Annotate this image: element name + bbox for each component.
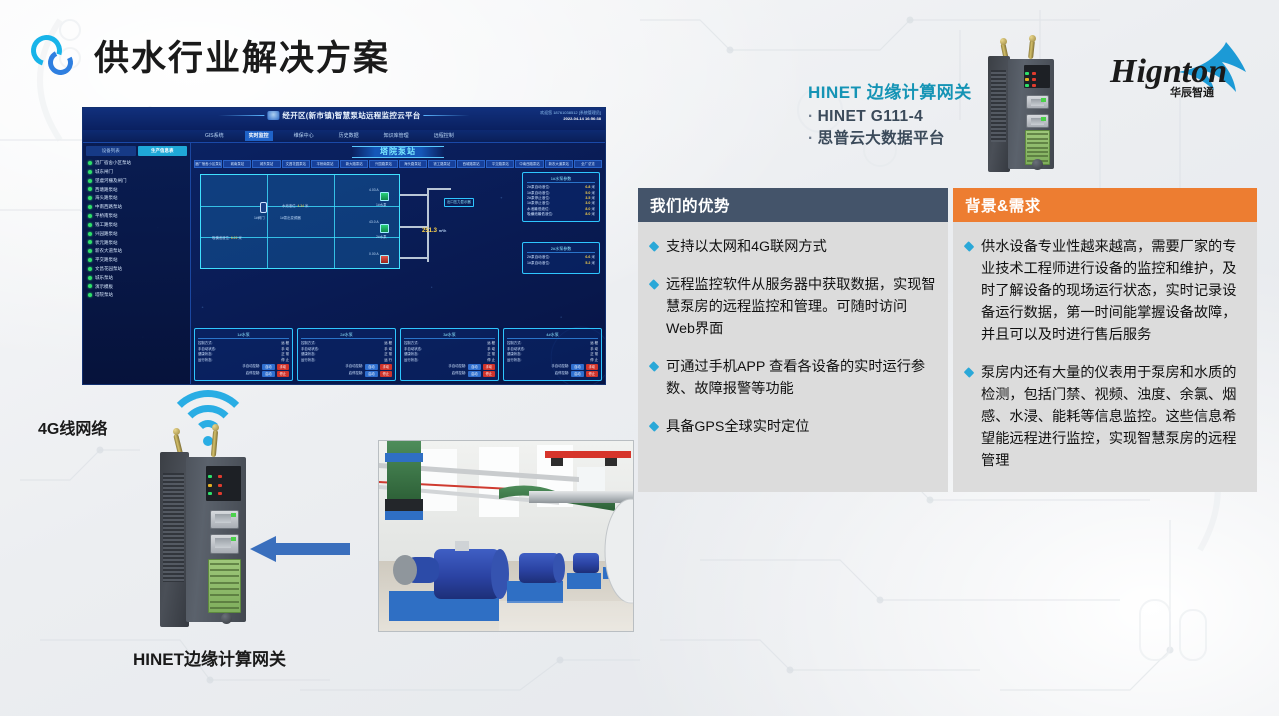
station-name: 城乐泵站 [95, 275, 113, 281]
brand-wing-right-icon [424, 115, 470, 116]
scada-station-list[interactable]: 酒厂宿舍小区泵站城东闸门望虞河栅及闸门西塘路泵站海头路泵站中南西路泵站平桥南泵站… [86, 159, 187, 300]
auto-button[interactable]: 自动 [468, 364, 480, 370]
scada-nav-maintenance[interactable]: 维保中心 [290, 131, 318, 141]
bullet-text: 泵房内还有大量的仪表用于泵房和水质的检测，包括门禁、视频、浊度、余氯、烟感、水浸… [981, 362, 1245, 472]
stop-button[interactable]: 停止 [277, 371, 289, 377]
pump-control-card[interactable]: 3#水泵控制方式:远 程手自动状态:手 动健康状态:正 常运行状态:停 止手自动… [400, 328, 499, 381]
status-dot-icon [88, 161, 92, 165]
hignton-bird-icon: Hignton 华辰智通 [1108, 40, 1250, 102]
scada-sidebar-tabs[interactable]: 设备列表 生产信息表 [86, 146, 187, 156]
status-dot-icon [88, 205, 92, 209]
panel-our-advantages: 我们的优势 支持以太网和4G联网方式远程监控软件从服务器中获取数据，实现智慧泵房… [638, 188, 948, 492]
scada-pump-control-cards[interactable]: 1#水泵控制方式:远 程手自动状态:手 动健康状态:正 常运行状态:停 止手自动… [194, 328, 602, 381]
station-name: 新农大道泵站 [95, 248, 122, 254]
ethernet-port-2-icon [210, 534, 239, 553]
status-dot-icon [88, 258, 92, 262]
status-dot-icon [88, 214, 92, 218]
diamond-bullet-icon [649, 241, 660, 252]
station-tab[interactable]: 中南西路泵站 [515, 160, 543, 168]
bullet-text: 可通过手机APP 查看各设备的实时运行参数、故障报警等功能 [666, 356, 936, 400]
auto-manual-label: 手自动控制: [242, 364, 260, 370]
start-stop-label: 启停控制: [452, 371, 467, 377]
svg-text:华辰智通: 华辰智通 [1170, 85, 1214, 99]
pump-auto-manual-controls[interactable]: 手自动控制:自动手动 [404, 364, 495, 370]
scada-nav-knowledge[interactable]: 知识库管理 [380, 131, 413, 141]
pump-start-stop-controls[interactable]: 启停控制:启动停止 [507, 371, 598, 377]
bullet-text: 支持以太网和4G联网方式 [666, 236, 827, 258]
pump-start-stop-controls[interactable]: 启停控制:启动停止 [404, 371, 495, 377]
pump-control-card[interactable]: 1#水泵控制方式:远 程手自动状态:手 动健康状态:正 常运行状态:停 止手自动… [194, 328, 293, 381]
station-tab[interactable]: 城南泵站 [223, 160, 251, 168]
station-list-item[interactable]: 钱工路泵站 [86, 220, 187, 229]
product-callout: HINET 边缘计算网关 ·HINET G111-4 ·思普云大数据平台 [808, 78, 972, 151]
station-tab[interactable]: 酒厂宿舍小区泵站 [194, 160, 222, 168]
status-dot-icon [88, 249, 92, 253]
pump-status-value: 停 止 [487, 358, 495, 363]
bullet-item: 可通过手机APP 查看各设备的实时运行参数、故障报警等功能 [650, 356, 936, 400]
pump-auto-manual-controls[interactable]: 手自动控制:自动手动 [301, 364, 392, 370]
scada-nav-history[interactable]: 历史数据 [335, 131, 363, 141]
station-list-item[interactable]: 望虞河栅及闸门 [86, 176, 187, 185]
scada-nav-bar[interactable]: GIS系统 实时监控 维保中心 历史数据 知识库管理 远程控制 [83, 130, 605, 143]
station-name: 平交路泵站 [95, 257, 118, 263]
station-tab[interactable]: 钱工路泵站 [428, 160, 456, 168]
panel-advantages-heading: 我们的优势 [638, 188, 948, 222]
pump-card-title: 3#水泵 [404, 332, 495, 339]
pump-1-parameter-panel: 1#水泵参数 2#泵自动液位:6.8 米1#泵自动液位:5.0 米2#泵停止液位… [522, 172, 600, 221]
station-list-item[interactable]: 酒厂宿舍小区泵站 [86, 159, 187, 168]
station-tab[interactable]: 新农大道泵站 [545, 160, 573, 168]
start-button[interactable]: 启动 [571, 371, 583, 377]
station-list-item[interactable]: 平交路泵站 [86, 256, 187, 265]
bullet-text: 远程监控软件从服务器中获取数据，实现智慧泵房的远程监控和管理。可随时访问Web界… [666, 274, 936, 340]
start-button[interactable]: 启动 [365, 371, 377, 377]
auto-manual-label: 手自动控制: [345, 364, 363, 370]
svg-text:Hignton: Hignton [1109, 53, 1227, 90]
station-name: 平桥南泵站 [95, 213, 118, 219]
status-dot-icon [88, 240, 92, 244]
station-list-item[interactable]: 中南西路泵站 [86, 203, 187, 212]
station-name: 城东闸门 [95, 169, 113, 175]
diamond-bullet-icon [964, 241, 975, 252]
status-dot-icon [88, 170, 92, 174]
page-title: 供水行业解决方案 [94, 30, 390, 81]
panel-background-requirements: 背景&需求 供水设备专业性越来越高，需要厂家的专业技术工程师进行设备的监控和维护… [953, 188, 1257, 492]
current-3-value: 0.00 A [369, 252, 379, 256]
valve-1-label: 1#阀门 [254, 216, 265, 220]
start-button[interactable]: 启动 [468, 371, 480, 377]
station-name: 塔院泵站 [95, 292, 113, 298]
status-dot-icon [88, 196, 92, 200]
label-edge-gateway: HINET边缘计算网关 [133, 645, 286, 670]
auto-button[interactable]: 自动 [262, 364, 274, 370]
parameter-row: 吸横池最低液位:8.0 米 [527, 212, 595, 217]
scada-process-diagram: 1#阀门 1#泵出变频器 水池液位: 4.34 米 吸横池液位: 6.22 米 … [194, 170, 602, 275]
current-2-value: 43.0 A [369, 220, 379, 224]
scada-platform-screenshot[interactable]: 经开区(新市镇)智慧泵站远程监控云平台 欢迎您 18761038512 [系统管… [82, 107, 606, 385]
station-name: 文昌花园泵站 [95, 266, 122, 272]
status-dot-icon [88, 223, 92, 227]
diamond-bullet-icon [649, 279, 660, 290]
suction-level-label: 吸横池液位: 6.22 米 [212, 236, 242, 240]
pump-3-icon[interactable] [380, 255, 389, 264]
station-name: 演示模板 [95, 284, 113, 290]
station-list-item[interactable]: 城乐泵站 [86, 273, 187, 282]
manual-button[interactable]: 手动 [380, 364, 392, 370]
auto-button[interactable]: 自动 [365, 364, 377, 370]
pump-card-title: 4#水泵 [507, 332, 598, 339]
pump-status-row: 运行状态:停 止 [404, 358, 495, 363]
manual-button[interactable]: 手动 [586, 364, 598, 370]
station-name: 酒厂宿舍小区泵站 [95, 160, 131, 166]
bullet-item: 远程监控软件从服务器中获取数据，实现智慧泵房的远程监控和管理。可随时访问Web界… [650, 274, 936, 340]
sidebar-tab-production-list[interactable]: 生产信息表 [138, 146, 188, 156]
scada-station-title: 塔院泵站 [352, 146, 444, 158]
pump-status-row: 运行状态:停 止 [198, 358, 289, 363]
edge-gateway-device-image [160, 452, 246, 627]
interlocking-circles-logo-icon [30, 31, 80, 81]
pump-control-card[interactable]: 2#水泵控制方式:远 程手自动状态:手 动健康状态:正 常运行状态:运 行手自动… [297, 328, 396, 381]
pump-control-card[interactable]: 4#水泵控制方式:远 程手自动状态:手 动健康状态:正 常运行状态:停 止手自动… [503, 328, 602, 381]
pump-room-photo [378, 440, 634, 632]
station-name: 状元路泵站 [95, 240, 118, 246]
scada-user-info: 欢迎您 18761038512 [系统管理员] 2022-04-14 16:56… [540, 110, 601, 122]
bullet-dot-icon: · [808, 130, 814, 147]
valve-1-icon[interactable] [260, 202, 267, 213]
pump-status-key: 运行状态: [198, 358, 213, 363]
station-name: 海头路泵站 [95, 195, 118, 201]
diamond-bullet-icon [964, 367, 975, 378]
station-tab[interactable]: 平桥南泵站 [311, 160, 339, 168]
auto-manual-label: 手自动控制: [551, 364, 569, 370]
bullet-text: 具备GPS全球实时定位 [666, 416, 809, 438]
status-dot-icon [88, 284, 92, 288]
pump-status-key: 运行状态: [404, 358, 419, 363]
hud-2-title: 2#水泵参数 [527, 246, 595, 253]
pump-status-value: 停 止 [281, 358, 289, 363]
station-name: 望虞河栅及闸门 [95, 178, 127, 184]
ethernet-port-1-icon [210, 510, 239, 529]
pump-2-icon[interactable] [380, 224, 389, 233]
station-list-item[interactable]: 平桥南泵站 [86, 212, 187, 221]
scada-station-tabs[interactable]: 酒厂宿舍小区泵站城南泵站城东泵站文昌花园泵站平桥南泵站新大路泵站兴园路泵站海头路… [194, 160, 602, 168]
label-4g-network: 4G线网络 [38, 415, 107, 439]
bullet-item: 具备GPS全球实时定位 [650, 416, 936, 438]
start-stop-label: 启停控制: [555, 371, 570, 377]
pump-status-value: 停 止 [590, 358, 598, 363]
scada-logo-icon [267, 111, 279, 120]
product-platform: 思普云大数据平台 [818, 130, 945, 147]
pump-start-stop-controls[interactable]: 启停控制:启动停止 [301, 371, 392, 377]
start-stop-label: 启停控制: [349, 371, 364, 377]
station-name: 兴园路泵站 [95, 231, 118, 237]
pump-start-stop-controls[interactable]: 启停控制:启动停止 [198, 371, 289, 377]
pump-auto-manual-controls[interactable]: 手自动控制:自动手动 [507, 364, 598, 370]
station-list-item[interactable]: 城东闸门 [86, 167, 187, 176]
station-list-item[interactable]: 新农大道泵站 [86, 247, 187, 256]
station-tab[interactable]: 城东泵站 [252, 160, 280, 168]
status-dot-icon [88, 187, 92, 191]
bullet-item: 供水设备专业性越来越高，需要厂家的专业技术工程师进行设备的监控和维护，及时了解设… [965, 236, 1245, 346]
scada-main-area: 塔院泵站 酒厂宿舍小区泵站城南泵站城东泵站文昌花园泵站平桥南泵站新大路泵站兴园路… [191, 143, 605, 384]
station-name: 钱工路泵站 [95, 222, 118, 228]
slide-header: 供水行业解决方案 [30, 30, 390, 81]
station-list-item[interactable]: 文昌花园泵站 [86, 264, 187, 273]
station-tab[interactable]: 兴园路泵站 [369, 160, 397, 168]
pump-card-title: 1#水泵 [198, 332, 289, 339]
hignton-brand-logo: Hignton 华辰智通 [1108, 40, 1250, 102]
status-dot-icon [88, 276, 92, 280]
panel-background-body: 供水设备专业性越来越高，需要厂家的专业技术工程师进行设备的监控和维护，及时了解设… [953, 222, 1257, 492]
pressure-tag: 出口压力显示器 [444, 198, 474, 206]
manual-button[interactable]: 手动 [277, 364, 289, 370]
scada-topbar: 经开区(新市镇)智慧泵站远程监控云平台 欢迎您 18761038512 [系统管… [83, 108, 605, 130]
station-list-item[interactable]: 西塘路泵站 [86, 185, 187, 194]
diamond-bullet-icon [649, 421, 660, 432]
station-tab[interactable]: 新大路泵站 [340, 160, 368, 168]
hud-1-title: 1#水泵参数 [527, 176, 595, 183]
brand-wing-left-icon [218, 115, 264, 116]
panel-advantages-body: 支持以太网和4G联网方式远程监控软件从服务器中获取数据，实现智慧泵房的远程监控和… [638, 222, 948, 492]
station-list-item[interactable]: 状元路泵站 [86, 238, 187, 247]
station-list-item[interactable]: 兴园路泵站 [86, 229, 187, 238]
station-tab[interactable]: 西城路泵站 [457, 160, 485, 168]
pump-status-key: 运行状态: [507, 358, 522, 363]
bullet-dot-icon: · [808, 108, 814, 125]
station-list-item[interactable]: 演示模板 [86, 282, 187, 291]
bullet-text: 供水设备专业性越来越高，需要厂家的专业技术工程师进行设备的监控和维护，及时了解设… [981, 236, 1245, 346]
station-list-item[interactable]: 塔院泵站 [86, 291, 187, 300]
inverter-label: 1#泵出变频器 [280, 216, 301, 220]
parameter-key: 1#泵自动液位: [527, 261, 550, 266]
station-tab[interactable]: 海头路泵站 [399, 160, 427, 168]
diamond-bullet-icon [649, 361, 660, 372]
pump-status-row: 运行状态:运 行 [301, 358, 392, 363]
pump-card-title: 2#水泵 [301, 332, 392, 339]
parameter-key: 吸横池最低液位: [527, 212, 553, 217]
manual-button[interactable]: 手动 [483, 364, 495, 370]
pump-status-value: 运 行 [384, 358, 392, 363]
auto-manual-label: 手自动控制: [448, 364, 466, 370]
panel-background-heading: 背景&需求 [953, 188, 1257, 222]
parameter-row: 1#泵自动液位:5.2 米 [527, 261, 595, 266]
station-tab[interactable]: 全厂总览 [574, 160, 602, 168]
station-tab[interactable]: 平交路泵站 [486, 160, 514, 168]
tank-level-value: 4.34 [297, 204, 304, 208]
left-arrow-icon [250, 536, 350, 562]
pump-2-parameter-panel: 2#水泵参数 2#泵自动液位:6.6 米1#泵自动液位:5.2 米 [522, 242, 600, 274]
status-dot-icon [88, 293, 92, 297]
pump-auto-manual-controls[interactable]: 手自动控制:自动手动 [198, 364, 289, 370]
sidebar-tab-device-list[interactable]: 设备列表 [86, 146, 136, 156]
station-tab[interactable]: 文昌花园泵站 [282, 160, 310, 168]
scada-body: 设备列表 生产信息表 酒厂宿舍小区泵站城东闸门望虞河栅及闸门西塘路泵站海头路泵站… [83, 143, 605, 384]
terminal-block-icon [208, 559, 241, 613]
pump-status-row: 运行状态:停 止 [507, 358, 598, 363]
pump-1-label: 1#水泵 [376, 203, 387, 207]
bullet-item: 支持以太网和4G联网方式 [650, 236, 936, 258]
bullet-item: 泵房内还有大量的仪表用于泵房和水质的检测，包括门禁、视频、浊度、余氯、烟感、水浸… [965, 362, 1245, 472]
start-button[interactable]: 启动 [262, 371, 274, 377]
suction-level-value: 6.22 [231, 236, 238, 240]
status-dot-icon [88, 179, 92, 183]
pump-1-icon[interactable] [380, 192, 389, 201]
current-1-value: 4.03 A [369, 188, 379, 192]
product-line-2: ·思普云大数据平台 [808, 128, 972, 150]
scada-sidebar[interactable]: 设备列表 生产信息表 酒厂宿舍小区泵站城东闸门望虞河栅及闸门西塘路泵站海头路泵站… [83, 143, 191, 384]
stop-button[interactable]: 停止 [483, 371, 495, 377]
product-model: HINET G111-4 [818, 108, 924, 125]
product-title: HINET 边缘计算网关 [808, 78, 972, 103]
flow-rate-readout: 251.3 m³/h [422, 228, 446, 236]
product-gateway-device-image [988, 56, 1054, 172]
scada-platform-title: 经开区(新市镇)智慧泵站远程监控云平台 [282, 111, 420, 120]
station-list-item[interactable]: 海头路泵站 [86, 194, 187, 203]
status-dot-icon [88, 267, 92, 271]
tank-level-label: 水池液位: 4.34 米 [282, 204, 308, 208]
auto-button[interactable]: 自动 [571, 364, 583, 370]
station-name: 西塘路泵站 [95, 187, 118, 193]
parameter-value: 5.2 米 [585, 261, 595, 266]
stop-button[interactable]: 停止 [586, 371, 598, 377]
station-name: 中南西路泵站 [95, 204, 122, 210]
parameter-value: 8.0 米 [585, 212, 595, 217]
product-line-1: ·HINET G111-4 [808, 106, 972, 128]
scada-nav-realtime[interactable]: 实时监控 [245, 131, 273, 141]
start-stop-label: 启停控制: [246, 371, 261, 377]
scada-brand: 经开区(新市镇)智慧泵站远程监控云平台 [218, 111, 469, 120]
pump-2-label: 2#水泵 [376, 235, 387, 239]
stop-button[interactable]: 停止 [380, 371, 392, 377]
scada-timestamp: 2022-04-14 16:56:38 [540, 116, 601, 122]
status-dot-icon [88, 232, 92, 236]
scada-nav-remote[interactable]: 远程控制 [430, 131, 458, 141]
pump-status-key: 运行状态: [301, 358, 316, 363]
scada-nav-gis[interactable]: GIS系统 [201, 131, 228, 141]
